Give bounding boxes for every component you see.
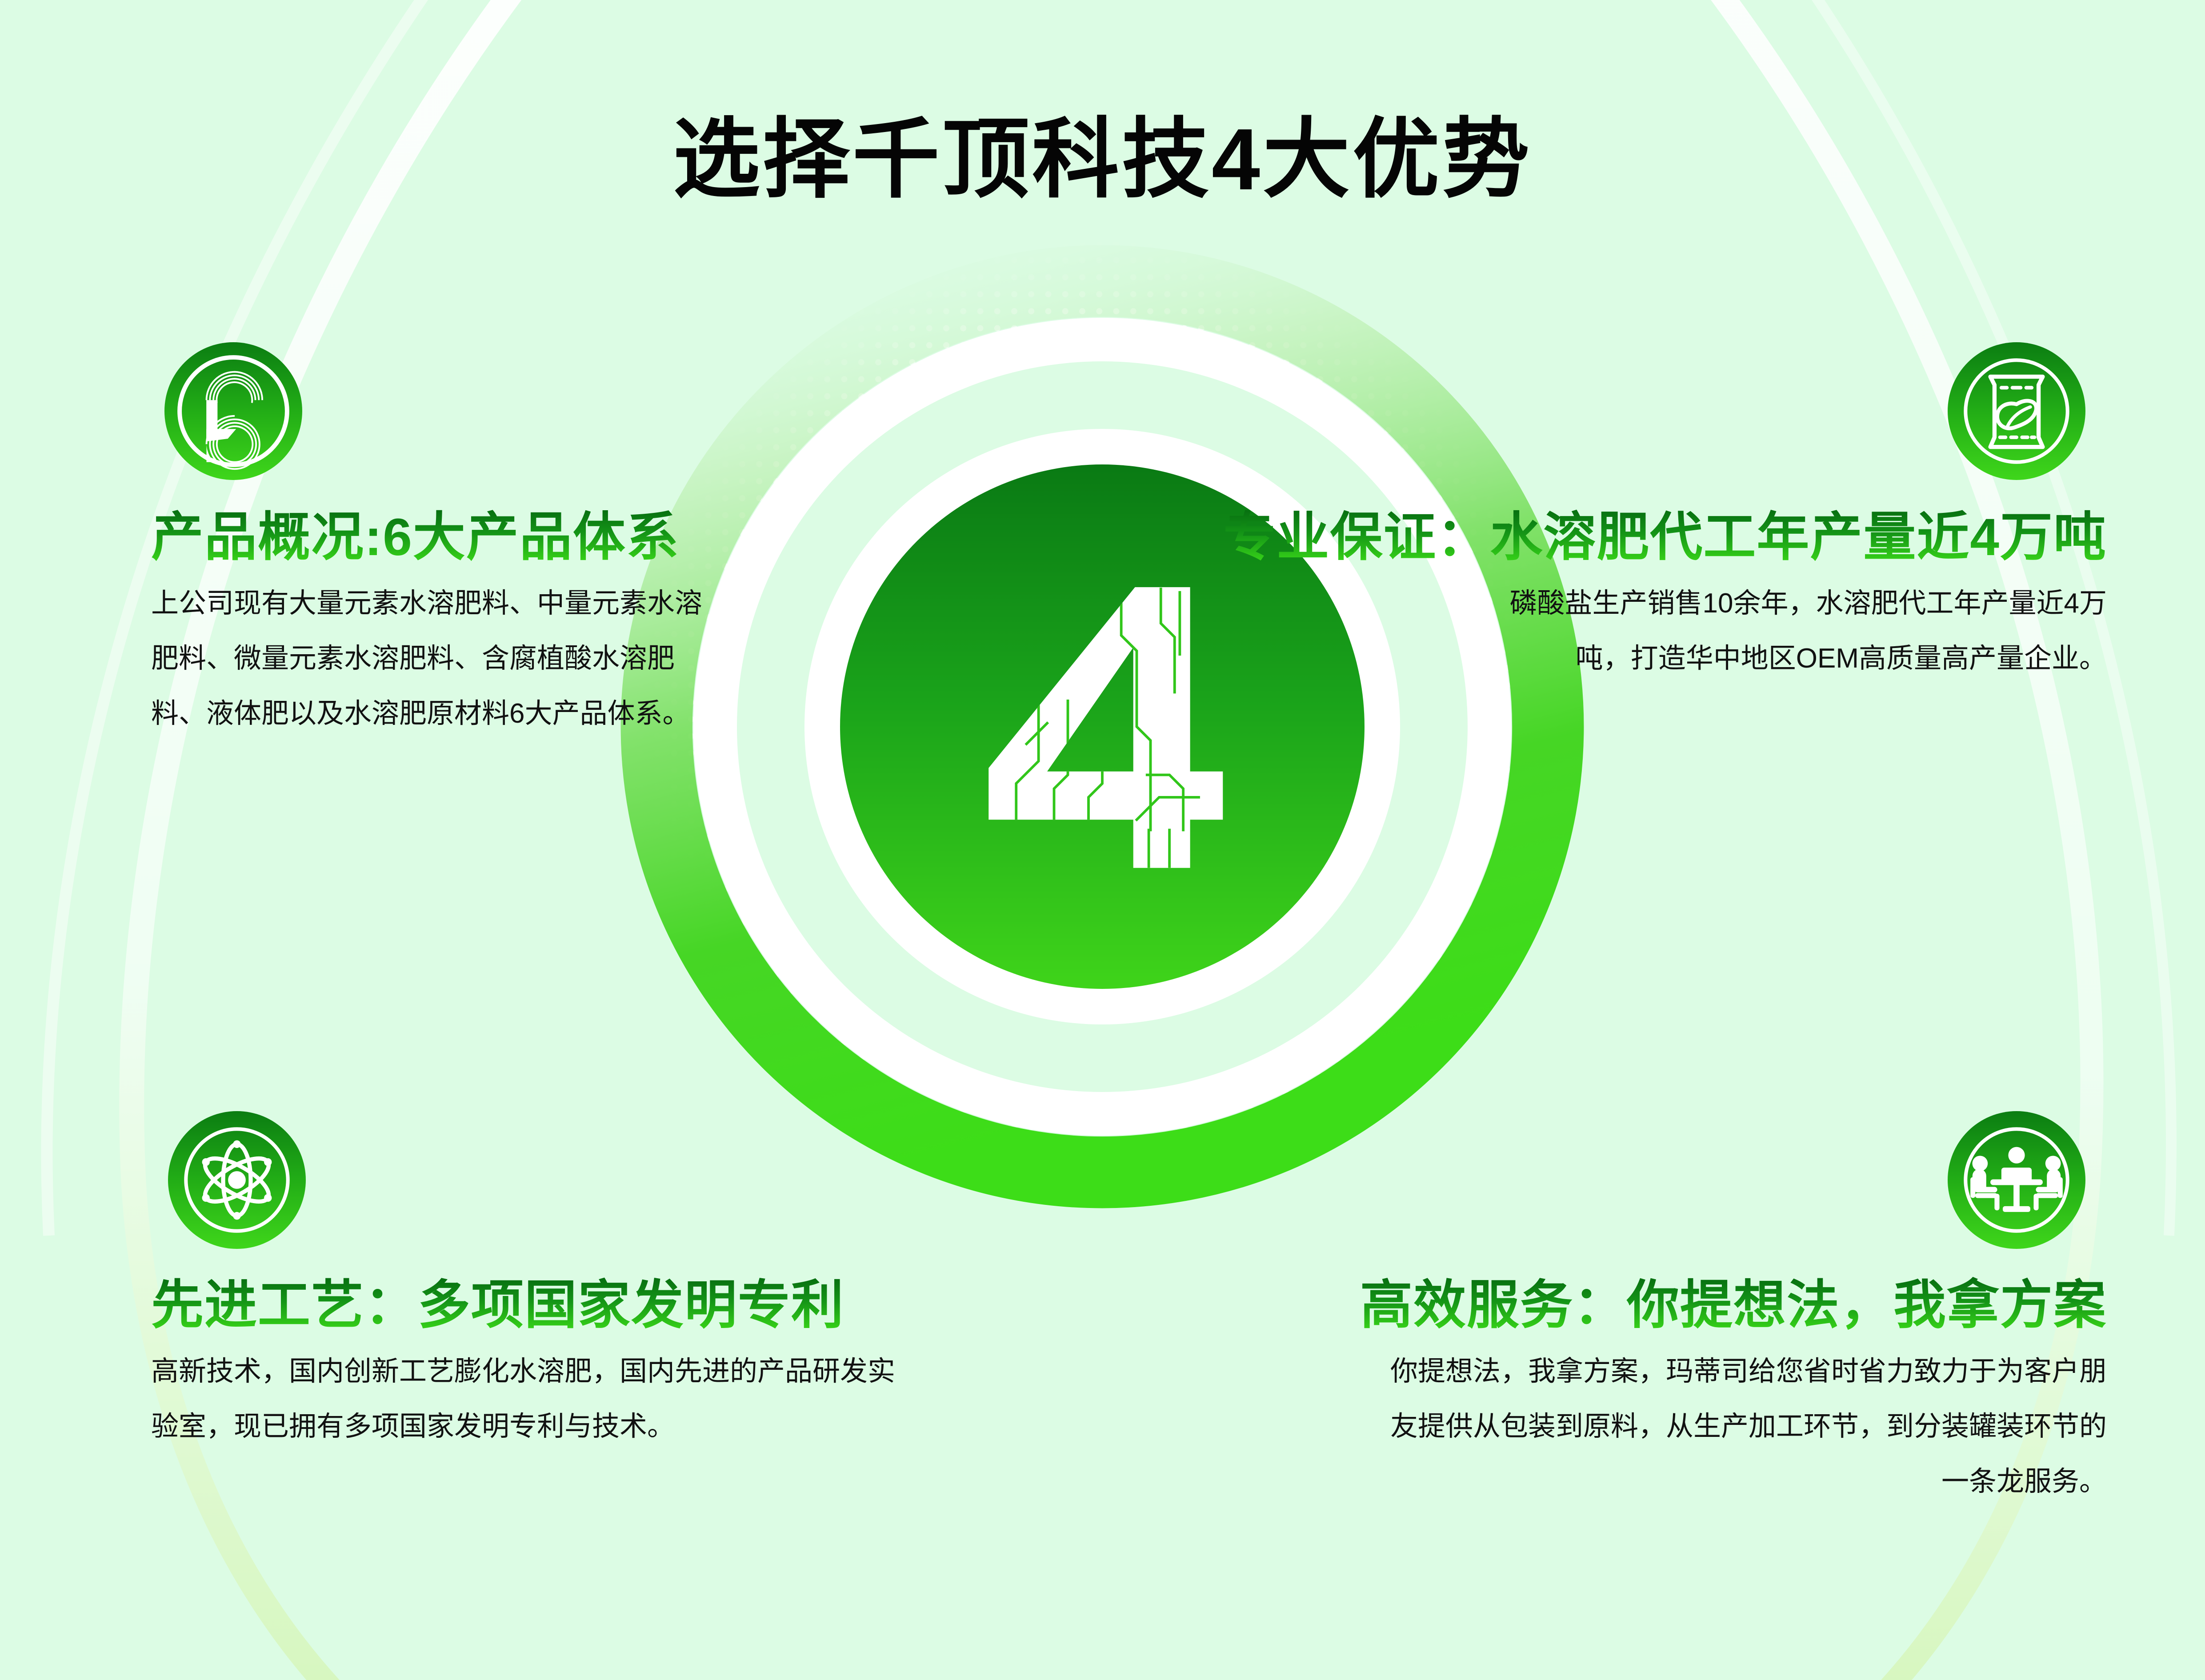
number-six-badge-icon [164, 342, 302, 480]
advantage-heading: 高效服务：你提想法，我拿方案 [1342, 1276, 2107, 1336]
advantage-body: 磷酸盐生产销售10余年，水溶肥代工年产量近4万吨，打造华中地区OEM高质量高产量… [1471, 576, 2107, 686]
page-title: 选择千顶科技4大优势 [0, 89, 2205, 215]
advantage-block-product-overview: 产品概况:6大产品体系 上公司现有大量元素水溶肥料、中量元素水溶肥料、微量元素水… [151, 342, 747, 741]
advantage-body: 高新技术，国内创新工艺膨化水溶肥，国内先进的产品研发实验室，现已拥有多项国家发明… [151, 1344, 907, 1454]
fertilizer-bag-icon [1948, 342, 2085, 480]
advantage-heading: 先进工艺：多项国家发明专利 [151, 1276, 929, 1336]
advantage-heading: 专业保证：水溶肥代工年产量近4万吨 [1182, 508, 2107, 568]
atom-icon [168, 1111, 306, 1249]
advantage-heading: 产品概况:6大产品体系 [151, 508, 747, 568]
advantage-body: 上公司现有大量元素水溶肥料、中量元素水溶肥料、微量元素水溶肥料、含腐植酸水溶肥料… [151, 576, 702, 741]
advantage-block-advanced-technology: 先进工艺：多项国家发明专利 高新技术，国内创新工艺膨化水溶肥，国内先进的产品研发… [151, 1111, 929, 1454]
infographic-canvas: 选择千顶科技4大优势 产品概 [0, 0, 2205, 1680]
advantage-block-efficient-service: 高效服务：你提想法，我拿方案 你提想法，我拿方案，玛蒂司给您省时省力致力于为客户… [1342, 1111, 2107, 1509]
meeting-table-icon [1948, 1111, 2085, 1249]
advantage-body: 你提想法，我拿方案，玛蒂司给您省时省力致力于为客户朋友提供从包装到原料，从生产加… [1387, 1344, 2107, 1509]
advantage-block-professional-guarantee: 专业保证：水溶肥代工年产量近4万吨 磷酸盐生产销售10余年，水溶肥代工年产量近4… [1182, 342, 2107, 686]
